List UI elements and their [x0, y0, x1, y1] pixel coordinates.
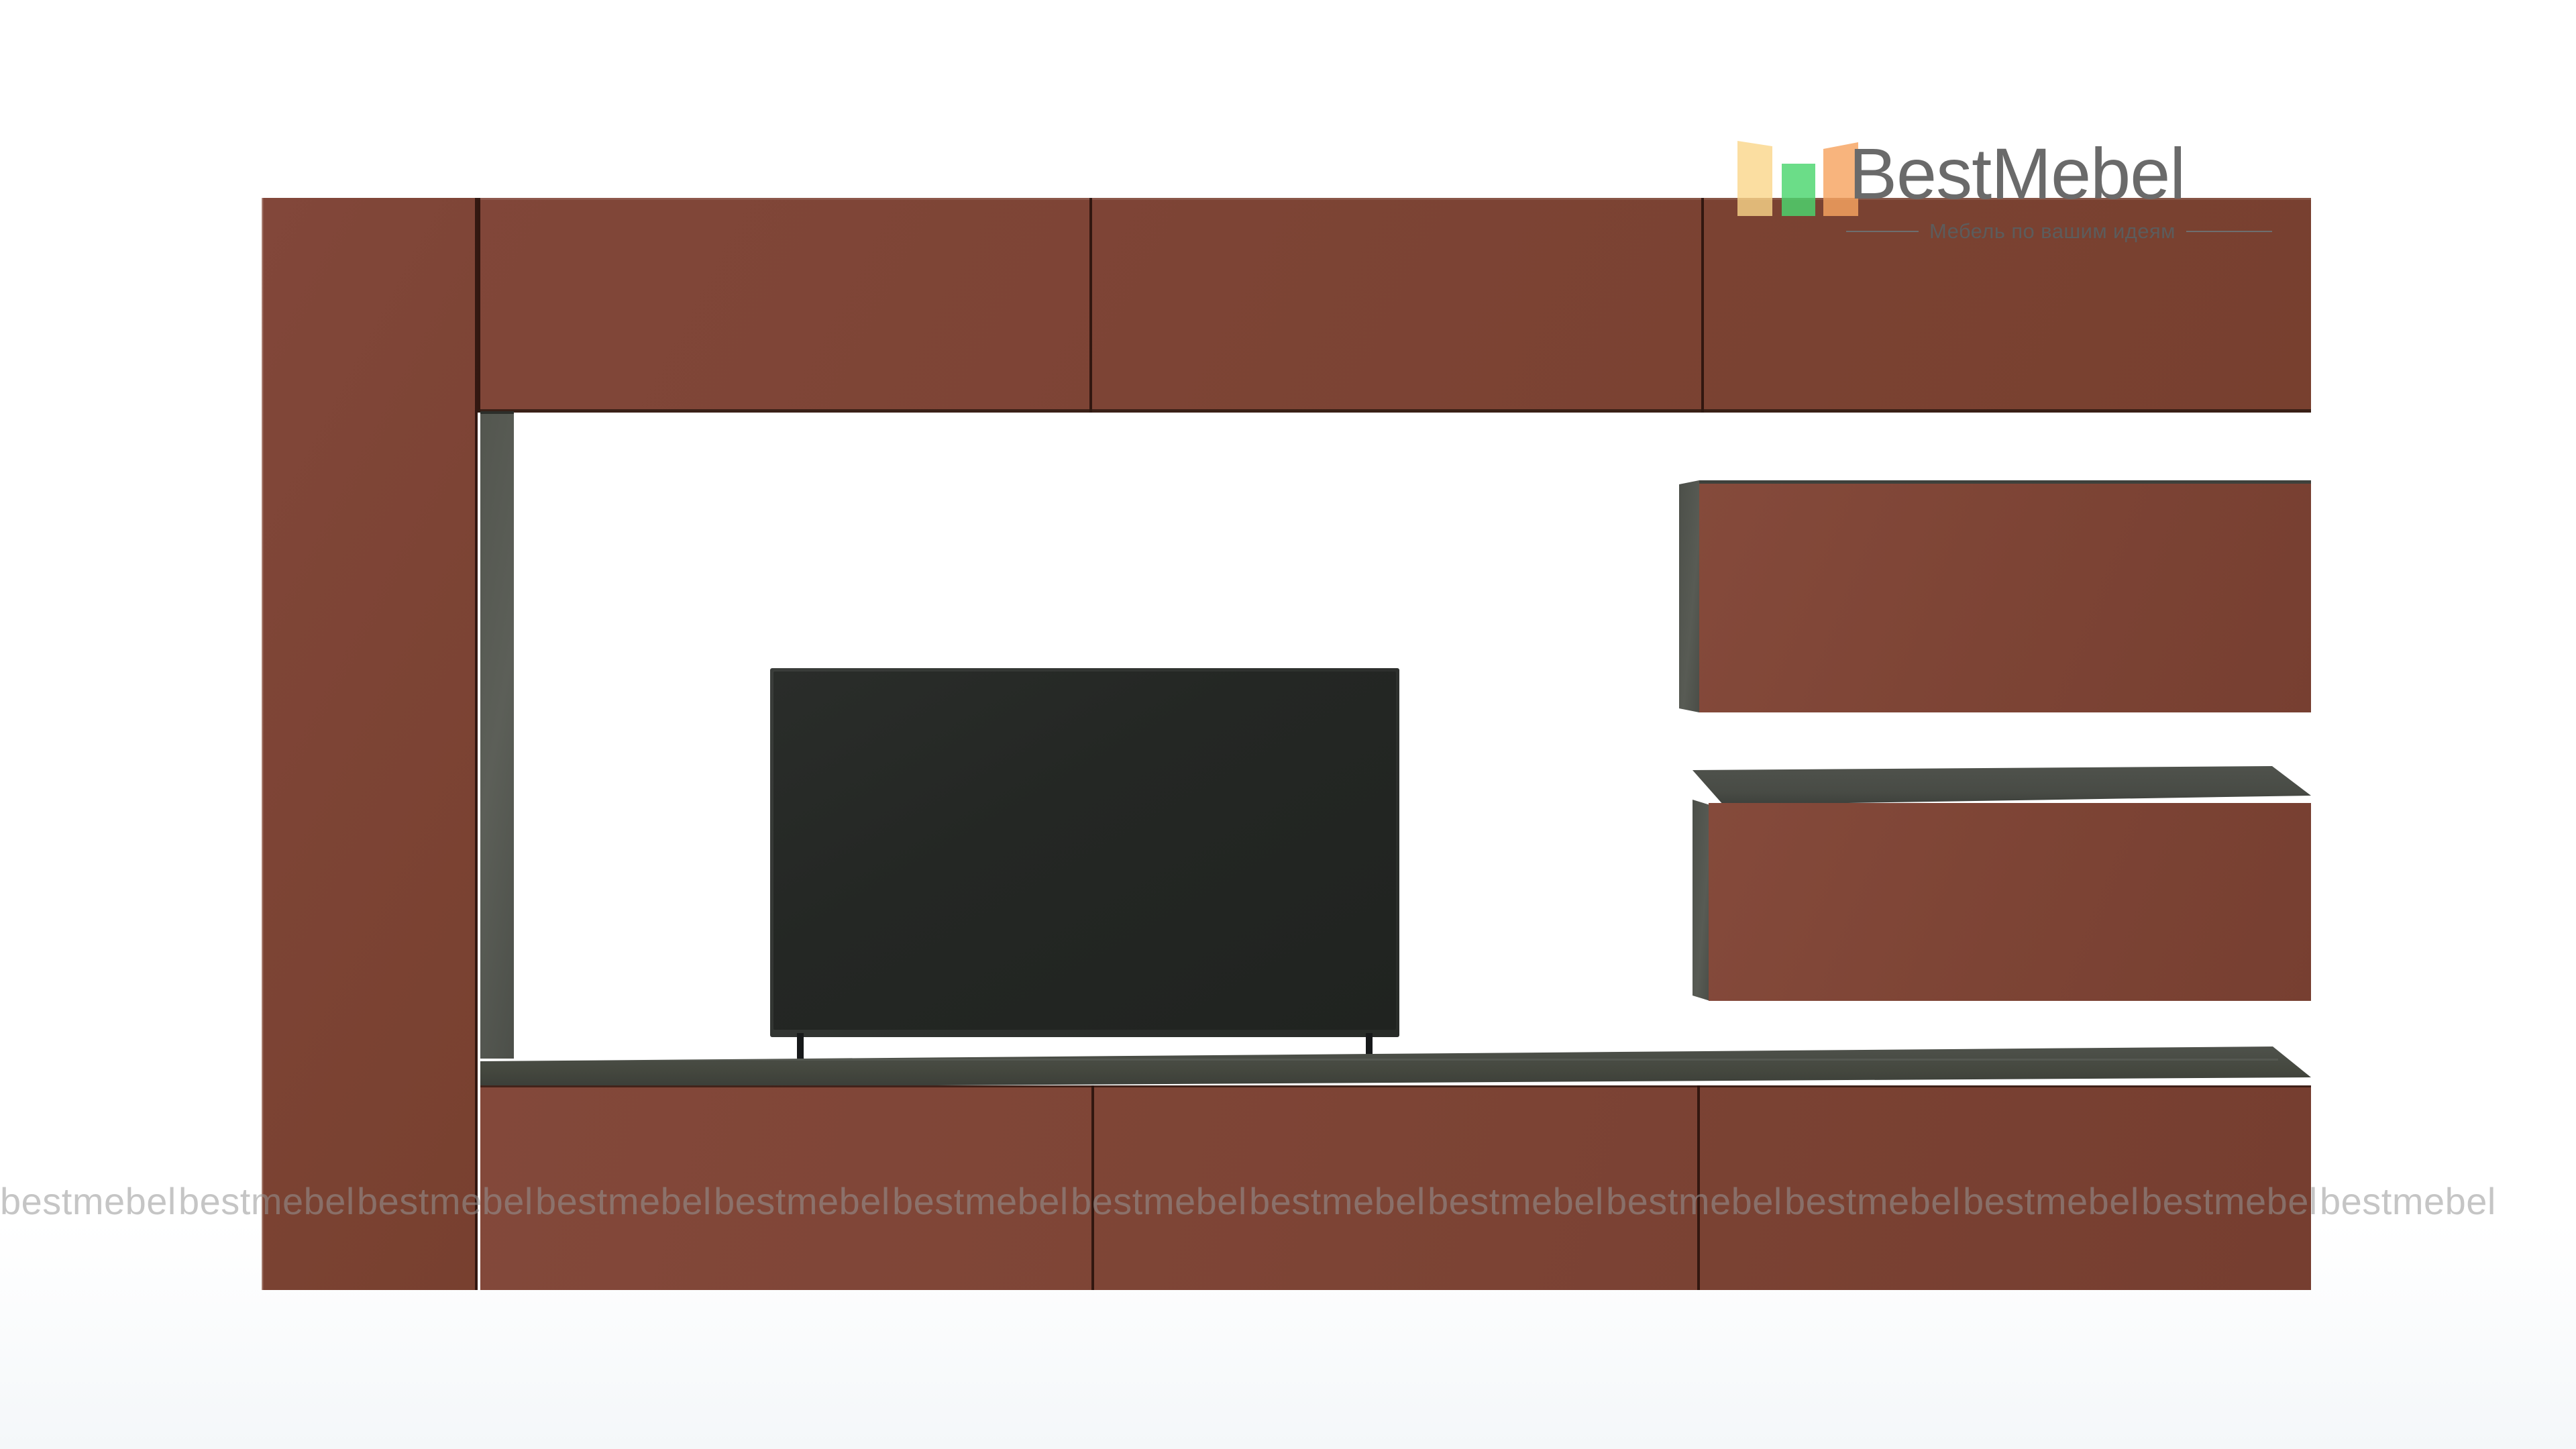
- wall-shelf-lower-front-surface: [1709, 803, 2311, 1001]
- wall-shelf-lower[interactable]: [1679, 766, 2311, 1001]
- wall-shelf-upper-front-surface: [1699, 480, 2311, 712]
- logo-rule-left: [1846, 231, 1919, 232]
- tv-screen[interactable]: [773, 672, 1396, 1030]
- watermark-text: bestmebel: [0, 1179, 178, 1223]
- tv-stand-front-top-edge: [480, 1085, 2311, 1087]
- tv-stand-top-surface: [480, 1046, 2311, 1088]
- watermark-text: bestmebel: [2320, 1179, 2498, 1223]
- logo-bar-green: [1782, 164, 1815, 216]
- left-column-left-highlight: [262, 198, 264, 1290]
- wall-shelf-upper-front[interactable]: [1699, 480, 2311, 712]
- tv-stand-top-highlight: [480, 1059, 2278, 1061]
- logo-bar-yellow: [1737, 141, 1772, 216]
- logo-tagline-row: Мебель по вашим идеям: [1846, 220, 2423, 243]
- bar-chart-logo-icon: [1735, 137, 1854, 216]
- wall-shelf-lower-front[interactable]: [1709, 803, 2311, 1001]
- wall-shelf-upper-side-panel: [1679, 480, 1699, 712]
- upper-row-bottom-lip: [262, 409, 2311, 413]
- brand-logo: BestMebel Мебель по вашим идеям: [1735, 131, 2432, 259]
- television[interactable]: [770, 668, 1399, 1037]
- logo-wordmark: BestMebel: [1849, 131, 2185, 215]
- upper-door-seam-2: [1089, 198, 1092, 413]
- wall-shelf-upper-top-edge: [1699, 480, 2311, 484]
- bottom-door-seam-1: [1091, 1085, 1094, 1290]
- logo-tagline: Мебель по вашим идеям: [1929, 219, 2176, 244]
- tv-stand-lowboy[interactable]: [480, 1046, 2311, 1290]
- upper-door-seam-1: [478, 198, 480, 413]
- tall-left-column[interactable]: [262, 198, 478, 1290]
- logo-rule-right: [2186, 231, 2272, 232]
- divider-panel-surface: [480, 411, 514, 1059]
- wall-shelf-upper[interactable]: [1679, 480, 2311, 712]
- divider-panel-cap-shadow: [480, 411, 514, 414]
- left-column-right-seam: [475, 198, 478, 1290]
- tv-stand-front[interactable]: [480, 1085, 2311, 1290]
- wall-shelf-lower-top-plane: [1679, 766, 2311, 806]
- upper-door-seam-3: [1701, 198, 1704, 413]
- bottom-door-seam-2: [1697, 1085, 1700, 1290]
- vertical-gray-divider-panel: [480, 411, 514, 1059]
- wall-shelf-lower-side-panel: [1693, 800, 1710, 1001]
- product-scene: BestMebel Мебель по вашим идеям bestmebe…: [0, 0, 2576, 1449]
